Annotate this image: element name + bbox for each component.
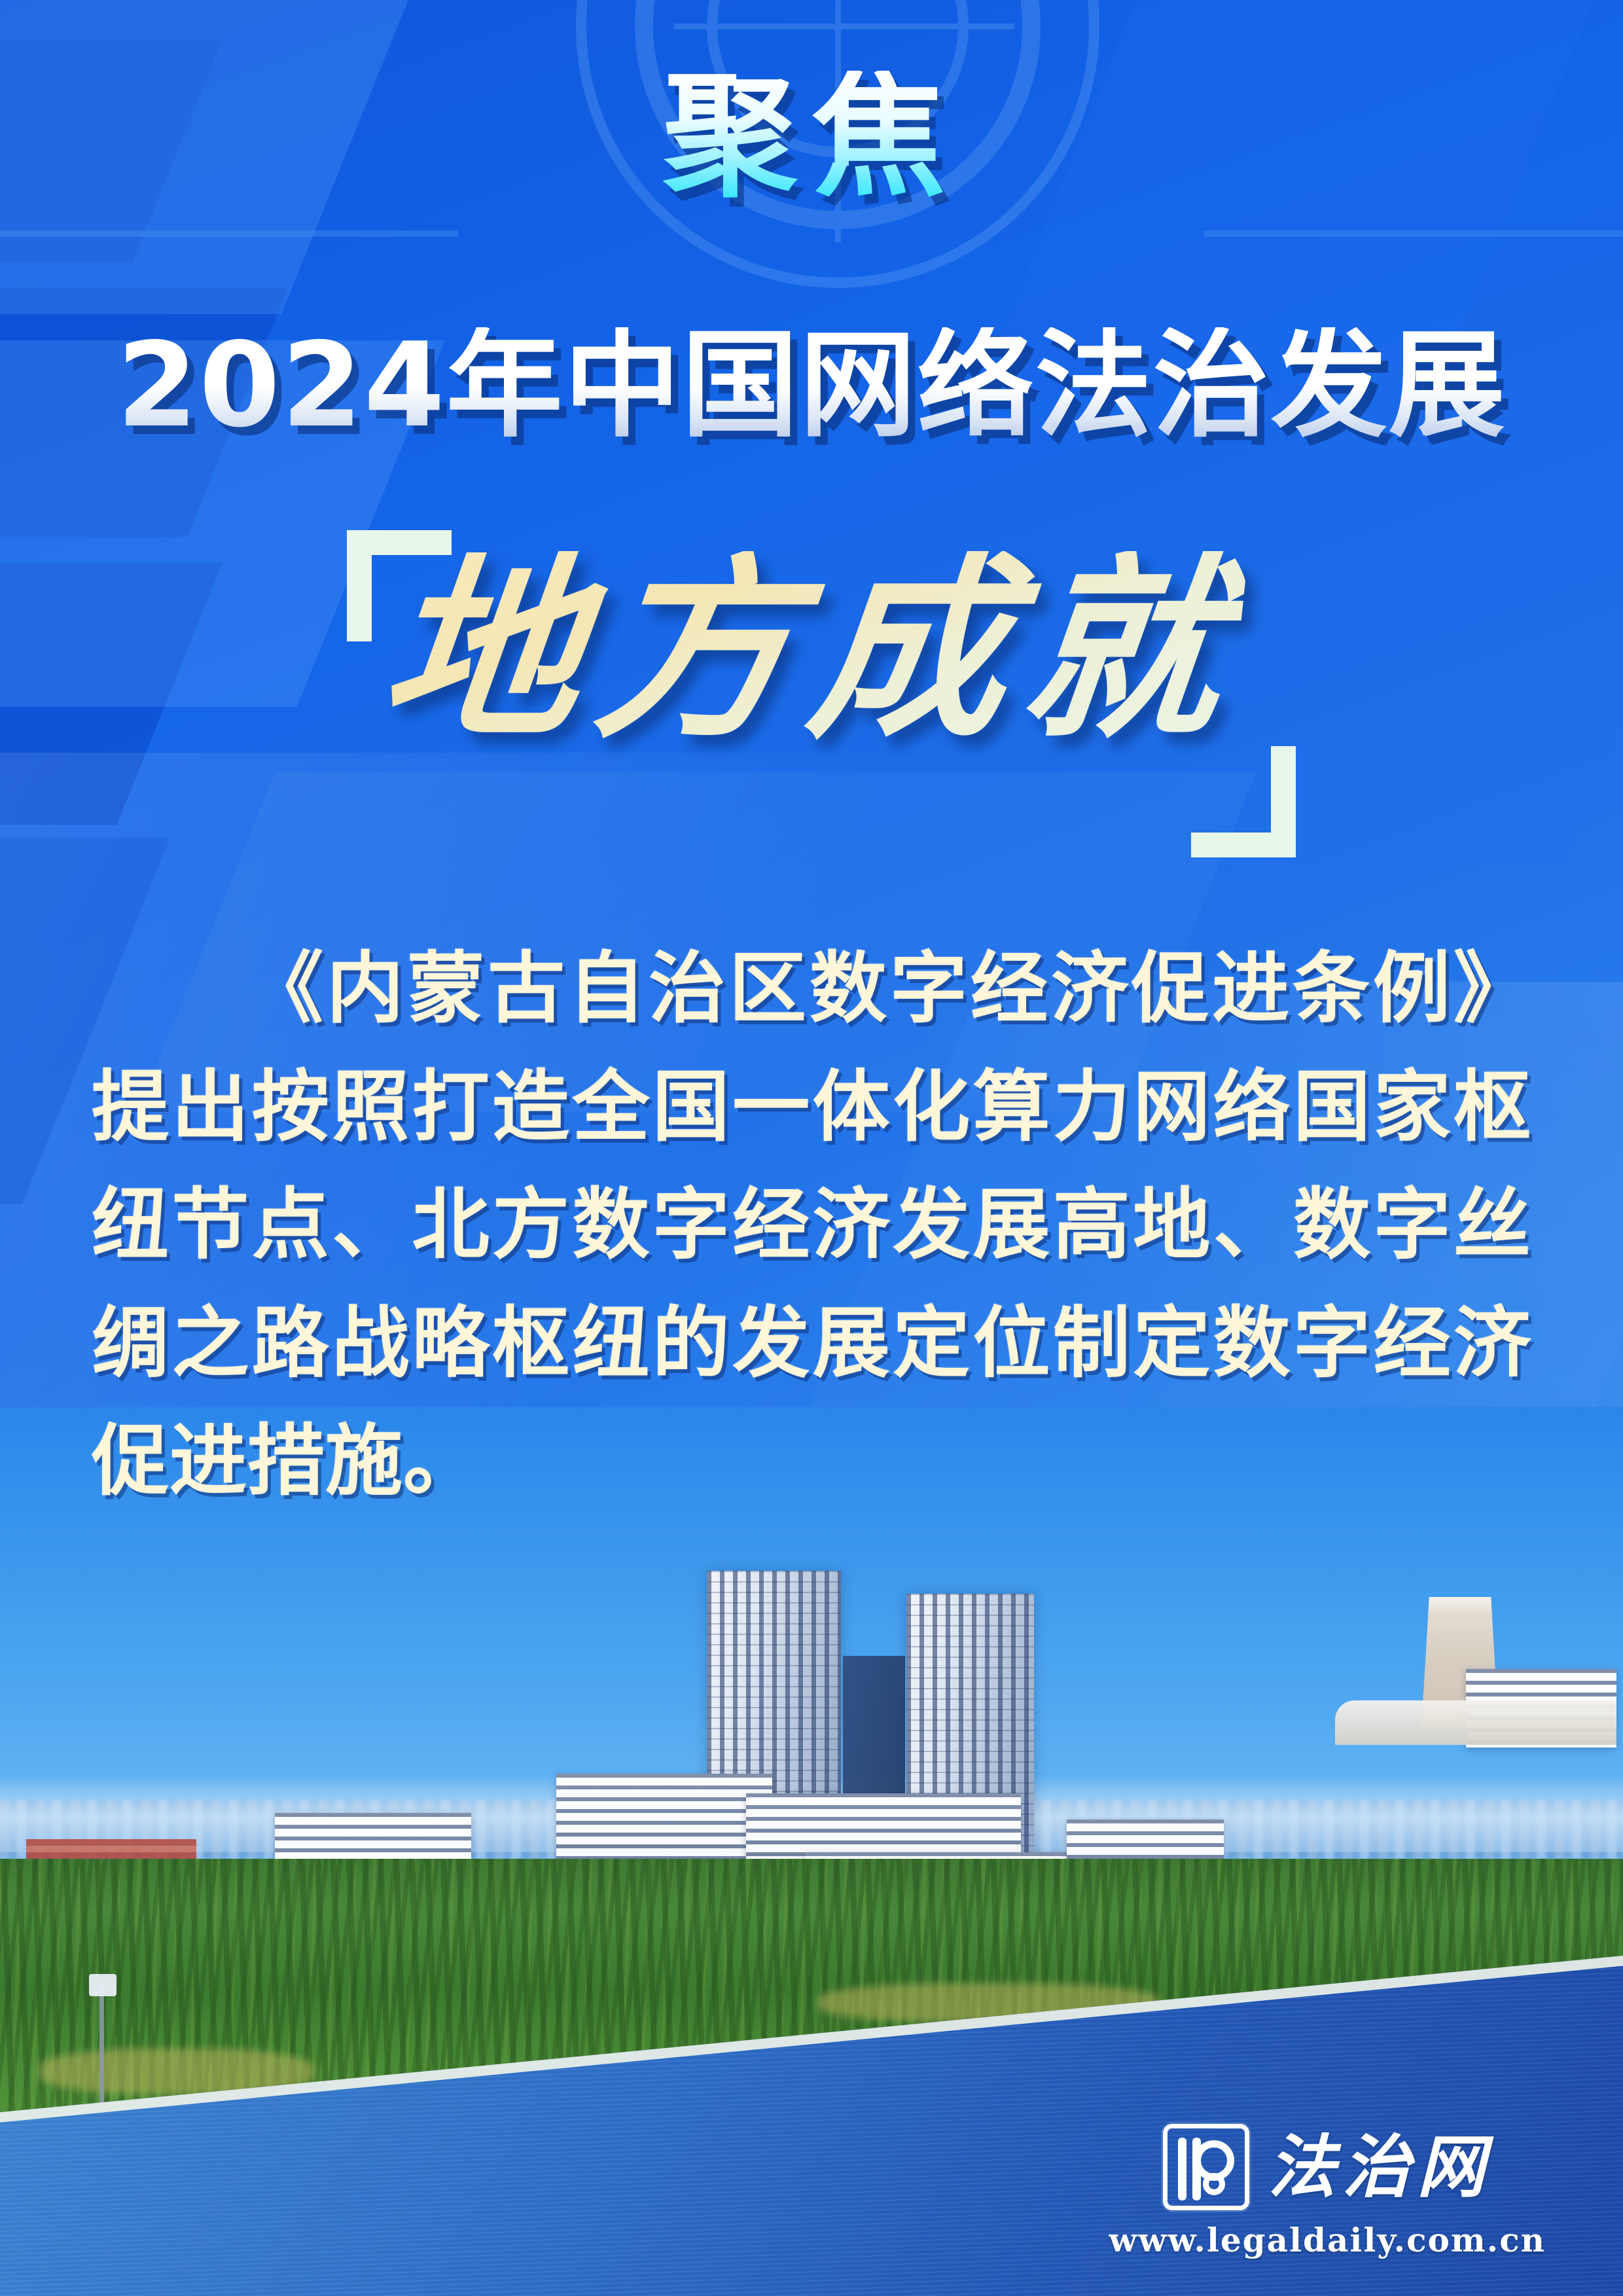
photo-slab-1 <box>556 1774 772 1872</box>
eyebrow-text: 聚焦 <box>663 71 960 205</box>
eyebrow-heading: 聚焦 <box>0 71 1623 205</box>
page-title-text: 2024年中国网络法治发展 <box>116 327 1506 444</box>
calligraphy-subtitle: 地方成就 <box>0 551 1623 747</box>
footer-logo-row: 法治网 <box>1163 2124 1491 2210</box>
page-title: 2024年中国网络法治发展 <box>0 327 1623 444</box>
body-paragraph: 《内蒙古自治区数字经济促进条例》提出按照打造全国一体化算力网络国家枢纽节点、北方… <box>92 929 1531 1520</box>
photo-plant-hall <box>1335 1700 1616 1745</box>
calligraphy-subtitle-text: 地方成就 <box>374 551 1249 747</box>
footer-url[interactable]: www.legaldaily.com.cn <box>1109 2221 1546 2259</box>
calligraphy-block: 地方成就 <box>0 517 1623 857</box>
bg-rule-2 <box>1204 230 1623 237</box>
footer-branding[interactable]: 法治网 www.legaldaily.com.cn <box>1109 2124 1546 2259</box>
photo-lamp-post <box>99 1983 104 2121</box>
photo-lamp-head <box>89 1974 116 1996</box>
seal-stamp-icon <box>1163 2124 1249 2210</box>
body-paragraph-text: 《内蒙古自治区数字经济促进条例》提出按照打造全国一体化算力网络国家枢纽节点、北方… <box>92 929 1531 1520</box>
bg-rule-1 <box>0 230 458 237</box>
footer-brand-name: 法治网 <box>1268 2133 1491 2201</box>
